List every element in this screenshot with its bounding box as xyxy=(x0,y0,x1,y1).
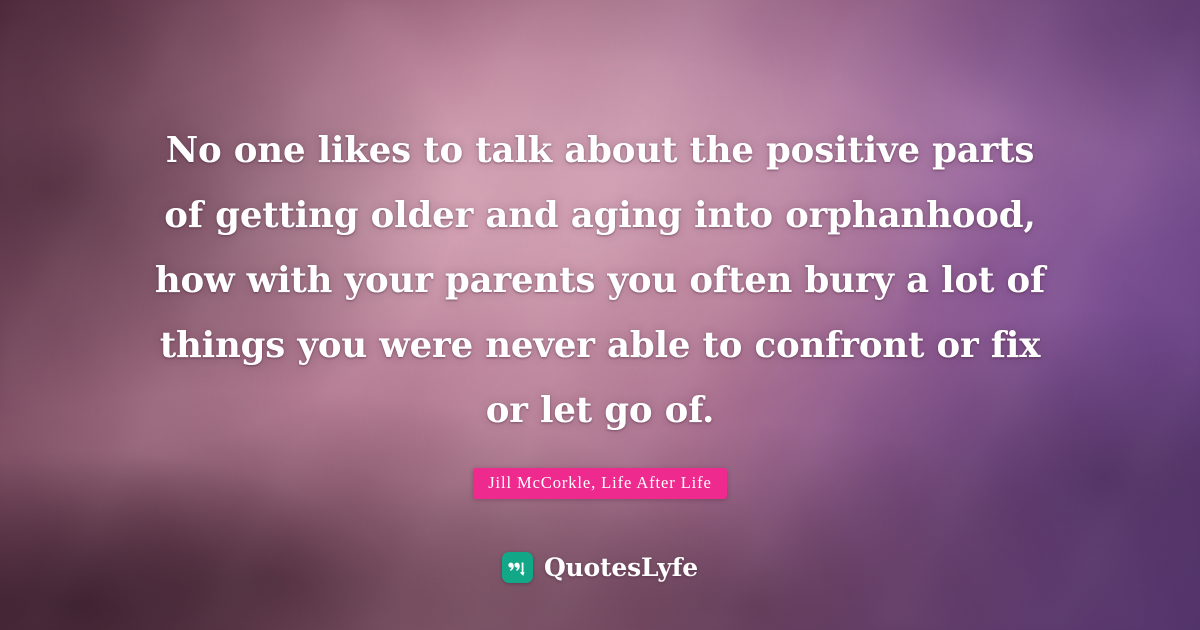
attribution-badge[interactable]: Jill McCorkle, Life After Life xyxy=(473,468,727,499)
attribution-row: Jill McCorkle, Life After Life xyxy=(473,468,727,499)
card-content: No one likes to talk about the positive … xyxy=(0,0,1200,630)
quote-card: No one likes to talk about the positive … xyxy=(0,0,1200,630)
quotation-mark-speech-bubble-icon xyxy=(502,552,533,583)
quote-line: No one likes to talk about the positive … xyxy=(100,118,1100,183)
quote-line: things you were never able to confront o… xyxy=(100,313,1100,378)
quote-line: or let go of. xyxy=(100,378,1100,443)
quote-line: of getting older and aging into orphanho… xyxy=(100,183,1100,248)
brand-name-label: QuotesLyfe xyxy=(544,553,698,582)
brand-logo[interactable]: QuotesLyfe xyxy=(0,552,1200,583)
quote-text-block: No one likes to talk about the positive … xyxy=(100,0,1100,443)
quote-line: how with your parents you often bury a l… xyxy=(100,248,1100,313)
